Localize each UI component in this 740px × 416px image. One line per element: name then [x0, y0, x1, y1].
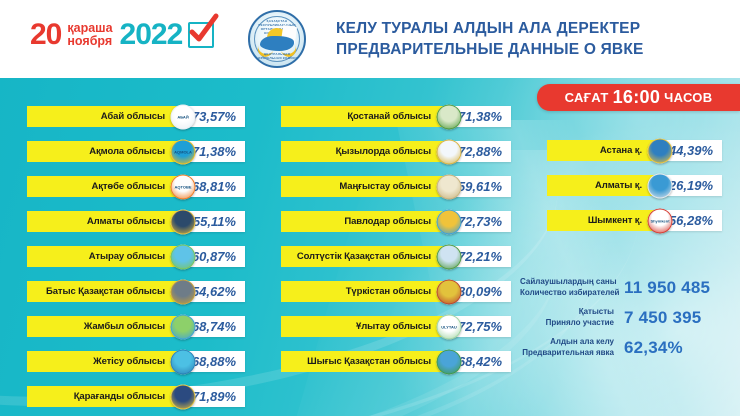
turnout-row: Абай облысы73,57%АБАЙ — [27, 106, 245, 127]
summary-label-ru: Предварительная явка — [520, 348, 614, 359]
region-name: Абай облысы — [101, 111, 165, 122]
almaty-city-coat-icon — [648, 173, 673, 198]
turnout-percentage: 72,21% — [458, 249, 502, 264]
region-name: Шымкент қ. — [588, 215, 642, 226]
region-name: Павлодар облысы — [344, 216, 431, 227]
turnout-row-label-cell: Атырау облысы — [27, 246, 183, 267]
coat-of-arms-graphic: AQTOBE — [171, 174, 196, 199]
region-name: Ұлытау облысы — [356, 321, 431, 332]
coat-of-arms-graphic — [171, 244, 196, 269]
region-name: Батыс Қазақстан облысы — [46, 286, 165, 297]
summary-value-turnout: 62,34% — [624, 338, 683, 358]
date-day: 20 — [30, 20, 61, 50]
coat-of-arms-graphic — [648, 138, 673, 163]
turnout-row-label-cell: Шымкент қ. — [547, 210, 660, 231]
turnout-percentage: 71,38% — [458, 109, 502, 124]
north-kazakhstan-region-coat-icon — [437, 244, 462, 269]
summary-value-voters: 11 950 485 — [624, 278, 710, 298]
election-turnout-infographic: 20 қараша ноября 2022 ҚАЗАҚСТАН РЕСПУБЛИ… — [0, 0, 740, 416]
coat-of-arms-graphic — [437, 174, 462, 199]
abai-region-coat-icon: АБАЙ — [171, 104, 196, 129]
turnout-percentage: 72,75% — [458, 319, 502, 334]
region-name: Жамбыл облысы — [84, 321, 165, 332]
zhetysu-region-coat-icon — [171, 349, 196, 374]
date-month: қараша ноября — [67, 22, 112, 48]
turnout-row: Шығыс Қазақстан облысы68,42% — [281, 351, 511, 372]
turnout-row-label-cell: Солтүстік Қазақстан облысы — [281, 246, 449, 267]
pavlodar-region-coat-icon — [437, 209, 462, 234]
turnout-percentage: 54,62% — [192, 284, 236, 299]
turnout-row-label-cell: Астана қ. — [547, 140, 660, 161]
turnout-percentage: 60,87% — [192, 249, 236, 264]
turnout-row-label-cell: Алматы қ. — [547, 175, 660, 196]
region-name: Қарағанды облысы — [74, 391, 165, 402]
turnout-row: Жамбыл облысы68,74% — [27, 316, 245, 337]
coat-of-arms-graphic — [437, 349, 462, 374]
astana-city-coat-icon — [648, 138, 673, 163]
turnout-percentage: 71,38% — [192, 144, 236, 159]
summary-row: Алдын ала келу Предварительная явка 62,3… — [520, 337, 740, 358]
summary-label-ru: Приняло участие — [520, 318, 614, 329]
region-name: Маңғыстау облысы — [339, 181, 431, 192]
turnout-row: Түркістан облысы80,09% — [281, 281, 511, 302]
coat-of-arms-graphic — [171, 314, 196, 339]
turnout-row: Солтүстік Қазақстан облысы72,21% — [281, 246, 511, 267]
aktobe-region-coat-icon: AQTOBE — [171, 174, 196, 199]
summary-row: Сайлаушылардың саны Количество избирател… — [520, 277, 740, 298]
kyzylorda-region-coat-icon — [437, 139, 462, 164]
coat-of-arms-graphic — [171, 279, 196, 304]
turnout-row: Қызылорда облысы72,88% — [281, 141, 511, 162]
turnout-row-label-cell: Батыс Қазақстан облысы — [27, 281, 183, 302]
coat-of-arms-graphic: ULYTAU — [437, 314, 462, 339]
region-name: Жетісу облысы — [93, 356, 165, 367]
turnout-percentage: 68,42% — [458, 354, 502, 369]
turnout-row-label-cell: Қарағанды облысы — [27, 386, 183, 407]
kostanay-region-coat-icon — [437, 104, 462, 129]
coat-of-arms-graphic — [437, 244, 462, 269]
karaganda-region-coat-icon — [171, 384, 196, 409]
region-name: Шығыс Қазақстан облысы — [307, 356, 431, 367]
turnout-percentage: 72,73% — [458, 214, 502, 229]
turnout-row: Шымкент қ.56,28%Shymkent — [547, 210, 722, 231]
turnout-percentage: 55,11% — [193, 214, 236, 229]
turnout-row-label-cell: Ақмола облысы — [27, 141, 183, 162]
turnout-row: Ұлытау облысы72,75%ULYTAU — [281, 316, 511, 337]
summary-labels: Қатысты Приняло участие — [520, 307, 624, 328]
summary-label-kz: Сайлаушылардың саны — [520, 277, 614, 288]
turnout-percentage: 72,88% — [458, 144, 502, 159]
time-banner-suffix: ЧАСОВ — [664, 90, 712, 105]
atyrau-region-coat-icon — [171, 244, 196, 269]
summary-labels: Алдын ала келу Предварительная явка — [520, 337, 624, 358]
turnout-percentage: 80,09% — [458, 284, 502, 299]
almaty-region-coat-icon — [171, 209, 196, 234]
region-name: Қостанай облысы — [347, 111, 431, 122]
turnout-row-label-cell: Түркістан облысы — [281, 281, 449, 302]
coat-of-arms-graphic — [171, 384, 196, 409]
turnout-row: Қарағанды облысы71,89% — [27, 386, 245, 407]
turnout-percentage: 56,28% — [669, 213, 713, 228]
coat-of-arms-graphic: АБАЙ — [171, 104, 196, 129]
turnout-row: Атырау облысы60,87% — [27, 246, 245, 267]
turnout-row: Маңғыстау облысы59,61% — [281, 176, 511, 197]
region-name: Түркістан облысы — [346, 286, 431, 297]
time-banner-time: 16:00 — [613, 87, 661, 108]
turnout-row: Алматы облысы55,11% — [27, 211, 245, 232]
turnout-row-label-cell: Ақтөбе облысы — [27, 176, 183, 197]
summary-label-ru: Количество избирателей — [520, 288, 614, 299]
region-name: Атырау облысы — [89, 251, 165, 262]
turnout-row-label-cell: Павлодар облысы — [281, 211, 449, 232]
date-year: 2022 — [120, 20, 183, 50]
ulytau-region-coat-icon: ULYTAU — [437, 314, 462, 339]
region-name: Ақмола облысы — [89, 146, 165, 157]
summary-value-participated: 7 450 395 — [624, 308, 701, 328]
zhambyl-region-coat-icon — [171, 314, 196, 339]
region-name: Алматы облысы — [87, 216, 165, 227]
header-bar: 20 қараша ноября 2022 ҚАЗАҚСТАН РЕСПУБЛИ… — [0, 0, 740, 78]
coat-of-arms-graphic — [437, 209, 462, 234]
turnout-percentage: 71,89% — [192, 389, 236, 404]
turnout-row-label-cell: Жетісу облысы — [27, 351, 183, 372]
time-banner: САҒАТ 16:00 ЧАСОВ — [537, 84, 740, 111]
region-name: Ақтөбе облысы — [91, 181, 165, 192]
central-election-commission-emblem: ҚАЗАҚСТАН РЕСПУБЛИКАСЫНЫҢ ОРТАЛЫҚ САЙЛАУ… — [248, 10, 306, 68]
turnout-row-label-cell: Жамбыл облысы — [27, 316, 183, 337]
turnout-row-label-cell: Қызылорда облысы — [281, 141, 449, 162]
turnout-row: Ақтөбе облысы68,81%AQTOBE — [27, 176, 245, 197]
title-russian: ПРЕДВАРИТЕЛЬНЫЕ ДАННЫЕ О ЯВКЕ — [336, 39, 644, 60]
turnout-percentage: 59,61% — [458, 179, 502, 194]
turnout-percentage: 68,81% — [192, 179, 236, 194]
turnout-percentage: 68,88% — [192, 354, 236, 369]
summary-label-kz: Алдын ала келу — [520, 337, 614, 348]
summary-statistics: Сайлаушылардың саны Количество избирател… — [520, 277, 740, 367]
turnout-row: Астана қ.44,39% — [547, 140, 722, 161]
akmola-region-coat-icon: AQMOLA — [171, 139, 196, 164]
coat-of-arms-graphic — [171, 209, 196, 234]
turkistan-region-coat-icon — [437, 279, 462, 304]
summary-label-kz: Қатысты — [520, 307, 614, 318]
emblem-text-bottom: ЦЕНТРАЛЬНАЯ ИЗБИРАТЕЛЬНАЯ КОМИССИЯ — [250, 52, 304, 60]
turnout-row: Қостанай облысы71,38% — [281, 106, 511, 127]
coat-of-arms-graphic: AQMOLA — [171, 139, 196, 164]
turnout-row-label-cell: Маңғыстау облысы — [281, 176, 449, 197]
turnout-row-label-cell: Ұлытау облысы — [281, 316, 449, 337]
coat-of-arms-graphic — [171, 349, 196, 374]
coat-of-arms-graphic — [437, 104, 462, 129]
region-name: Қызылорда облысы — [336, 146, 431, 157]
region-name: Солтүстік Қазақстан облысы — [297, 251, 431, 262]
checkbox-checked-icon — [188, 22, 214, 48]
turnout-row: Павлодар облысы72,73% — [281, 211, 511, 232]
turnout-row-label-cell: Абай облысы — [27, 106, 183, 127]
turnout-percentage: 73,57% — [192, 109, 236, 124]
coat-of-arms-graphic — [437, 279, 462, 304]
summary-row: Қатысты Приняло участие 7 450 395 — [520, 307, 740, 328]
west-kazakhstan-region-coat-icon — [171, 279, 196, 304]
turnout-row: Жетісу облысы68,88% — [27, 351, 245, 372]
time-banner-prefix: САҒАТ — [565, 90, 609, 105]
turnout-row: Батыс Қазақстан облысы54,62% — [27, 281, 245, 302]
shymkent-city-coat-icon: Shymkent — [648, 208, 673, 233]
election-date: 20 қараша ноября 2022 — [30, 20, 214, 50]
turnout-percentage: 44,39% — [669, 143, 713, 158]
mangystau-region-coat-icon — [437, 174, 462, 199]
turnout-percentage: 68,74% — [192, 319, 236, 334]
summary-labels: Сайлаушылардың саны Количество избирател… — [520, 277, 624, 298]
turnout-percentage: 26,19% — [669, 178, 713, 193]
turnout-row-label-cell: Шығыс Қазақстан облысы — [281, 351, 449, 372]
turnout-row: Алматы қ.26,19% — [547, 175, 722, 196]
coat-of-arms-graphic — [648, 173, 673, 198]
date-month-ru: ноября — [67, 35, 112, 48]
region-name: Алматы қ. — [595, 180, 642, 191]
turnout-row-label-cell: Алматы облысы — [27, 211, 183, 232]
coat-of-arms-graphic — [437, 139, 462, 164]
coat-of-arms-graphic: Shymkent — [648, 208, 673, 233]
title-kazakh: КЕЛУ ТУРАЛЫ АЛДЫН АЛА ДЕРЕКТЕР — [336, 18, 644, 39]
turnout-row-label-cell: Қостанай облысы — [281, 106, 449, 127]
turnout-row: Ақмола облысы71,38%AQMOLA — [27, 141, 245, 162]
east-kazakhstan-region-coat-icon — [437, 349, 462, 374]
page-title: КЕЛУ ТУРАЛЫ АЛДЫН АЛА ДЕРЕКТЕР ПРЕДВАРИТ… — [336, 18, 644, 60]
region-name: Астана қ. — [600, 145, 642, 156]
